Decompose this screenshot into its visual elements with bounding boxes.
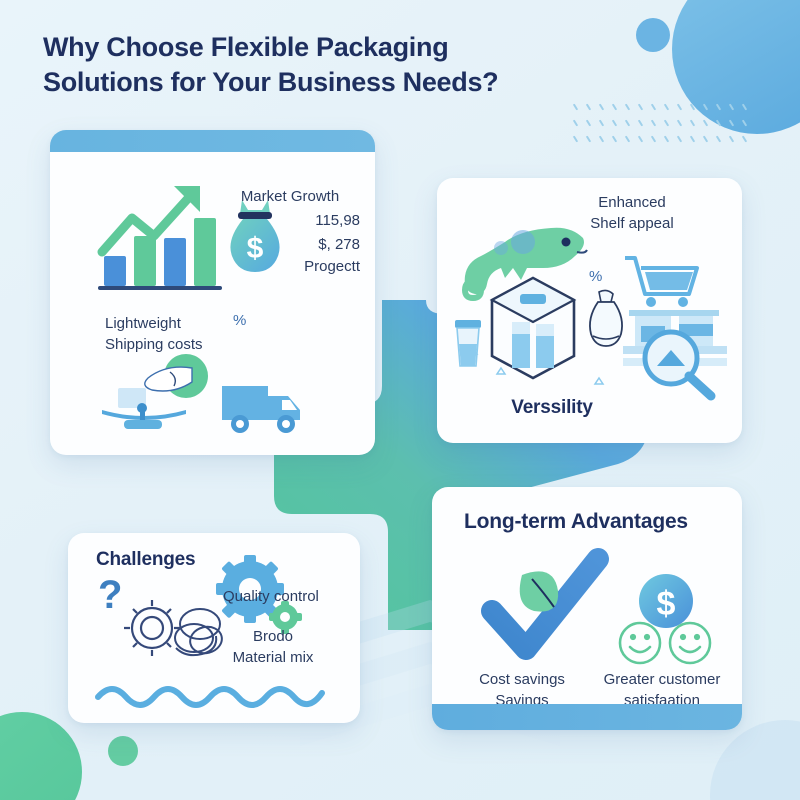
- leaf-icon: [520, 571, 558, 611]
- greater-customer-label: Greater customer: [587, 671, 737, 690]
- bar-chart-icon: [96, 180, 226, 295]
- shopping-cart-icon: [623, 254, 731, 394]
- card-footer-bar: [432, 704, 742, 730]
- card-advantages-content: Long-term Advantages: [432, 487, 742, 730]
- brodo-label: Brodo: [208, 628, 338, 647]
- decorative-circle-top-right: [672, 0, 800, 134]
- market-growth-heading: Market Growth: [215, 188, 365, 207]
- page-title-line-1: Why Choose Flexible Packaging: [43, 30, 603, 65]
- challenges-title: Challenges: [96, 548, 195, 572]
- shipping-costs-label: Shipping costs: [105, 336, 203, 355]
- market-growth-caption: Progectt: [215, 258, 360, 277]
- decorative-circle-bottom-left: [0, 712, 82, 800]
- decorative-circle-bottom-right: [710, 720, 800, 800]
- checkmark-icon: [482, 545, 612, 667]
- dash-pattern-icon: [572, 106, 752, 154]
- page-title-line-2: Solutions for Your Business Needs?: [43, 65, 603, 100]
- svg-text:$: $: [657, 585, 676, 623]
- versatility-title: Verssility: [477, 396, 627, 420]
- material-mix-label: Material mix: [208, 649, 338, 668]
- decorative-circle-top-right-small: [636, 18, 670, 52]
- enhanced-label: Enhanced: [557, 194, 707, 213]
- card-versatility-content: Enhanced Shelf appeal %: [437, 178, 742, 443]
- water-drop-icon: [467, 328, 607, 398]
- card-market-growth-content: $ Market Growth 115,98 $, 278 Progectt L…: [50, 130, 375, 455]
- percent-symbol: %: [589, 268, 602, 285]
- card-challenges[interactable]: Challenges ?: [68, 533, 360, 723]
- advantages-title: Long-term Advantages: [464, 509, 688, 535]
- delivery-truck-icon: [220, 380, 306, 438]
- quality-control-label: Quality control: [223, 588, 319, 607]
- lightweight-label: Lightweight: [105, 315, 181, 334]
- card-long-term-advantages[interactable]: Long-term Advantages: [432, 487, 742, 730]
- smiley-icon: [670, 623, 710, 663]
- market-growth-amount: $, 278: [215, 236, 360, 255]
- infographic-canvas: Why Choose Flexible Packaging Solutions …: [0, 0, 800, 800]
- wave-line-icon: [96, 681, 332, 707]
- card-market-growth[interactable]: $ Market Growth 115,98 $, 278 Progectt L…: [50, 130, 375, 455]
- card-challenges-content: Challenges ?: [68, 533, 360, 723]
- percent-symbol: %: [233, 312, 246, 329]
- scale-icon: [100, 360, 220, 432]
- question-mark-icon: ?: [98, 573, 122, 618]
- page-title: Why Choose Flexible Packaging Solutions …: [43, 30, 603, 100]
- cost-savings-label: Cost savings: [452, 671, 592, 690]
- market-growth-value: 115,98: [215, 212, 360, 231]
- card-versatility[interactable]: Enhanced Shelf appeal %: [437, 178, 742, 443]
- smiley-icon: [620, 623, 660, 663]
- decorative-circle-bottom-left-small: [108, 736, 138, 766]
- dollar-coin-icon: $: [610, 573, 722, 667]
